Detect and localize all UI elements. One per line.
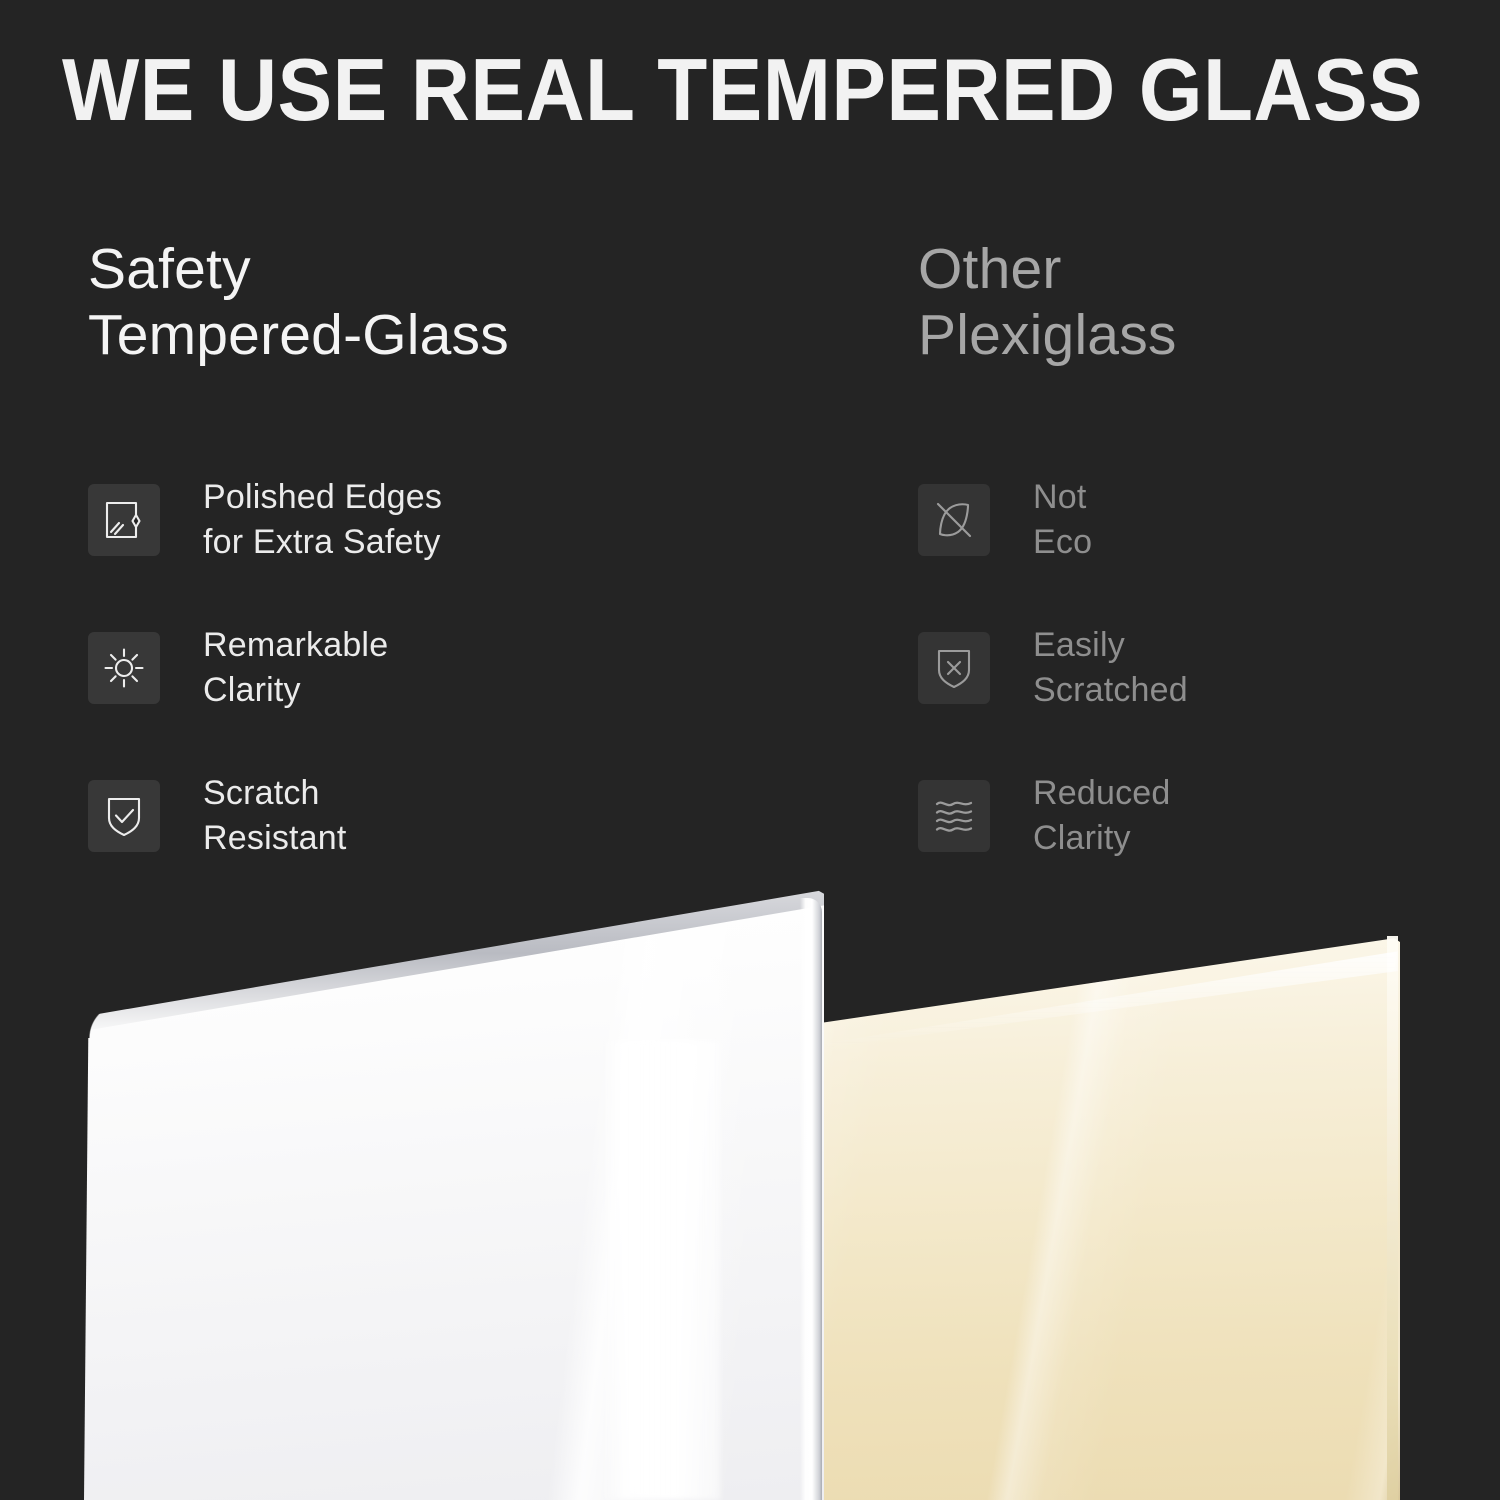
page-title: WE USE REAL TEMPERED GLASS <box>62 42 1355 138</box>
feature-label: Easily Scratched <box>1033 623 1188 713</box>
comparison-infographic: WE USE REAL TEMPERED GLASS Safety Temper… <box>0 0 1500 1500</box>
shield-x-icon <box>918 632 990 704</box>
plexiglass-panel-edge <box>1387 936 1398 1500</box>
column-other-plexiglass: Other Plexiglass Not Eco <box>918 236 1478 368</box>
feature-row: Remarkable Clarity <box>88 614 808 722</box>
feature-label: Not Eco <box>1033 475 1092 565</box>
feature-row: Easily Scratched <box>918 614 1478 722</box>
wavy-lines-blur-icon <box>918 780 990 852</box>
tempered-glass-panel-corner <box>84 998 124 1038</box>
feature-row: Scratch Resistant <box>88 762 808 870</box>
column-safety-tempered-glass: Safety Tempered-Glass Polished Edges for… <box>88 236 808 368</box>
column-heading-right: Other Plexiglass <box>918 236 1478 368</box>
feature-label: Remarkable Clarity <box>203 623 388 713</box>
leaf-crossed-out-icon <box>918 484 990 556</box>
feature-list-right: Not Eco Easily Scratched <box>918 466 1478 870</box>
feature-label: Polished Edges for Extra Safety <box>203 475 442 565</box>
sun-brightness-icon <box>88 632 160 704</box>
feature-label: Scratch Resistant <box>203 771 347 861</box>
feature-label: Reduced Clarity <box>1033 771 1171 861</box>
column-heading-left: Safety Tempered-Glass <box>88 236 808 368</box>
product-photo <box>0 880 1500 1500</box>
feature-list-left: Polished Edges for Extra Safety <box>88 466 808 870</box>
feature-row: Not Eco <box>918 466 1478 574</box>
feature-row: Polished Edges for Extra Safety <box>88 466 808 574</box>
polished-glass-pane-icon <box>88 484 160 556</box>
shield-check-icon <box>88 780 160 852</box>
tempered-glass-panel-side-edge <box>800 898 822 1500</box>
tempered-glass-panel-reflection <box>600 1040 720 1500</box>
feature-row: Reduced Clarity <box>918 762 1478 870</box>
